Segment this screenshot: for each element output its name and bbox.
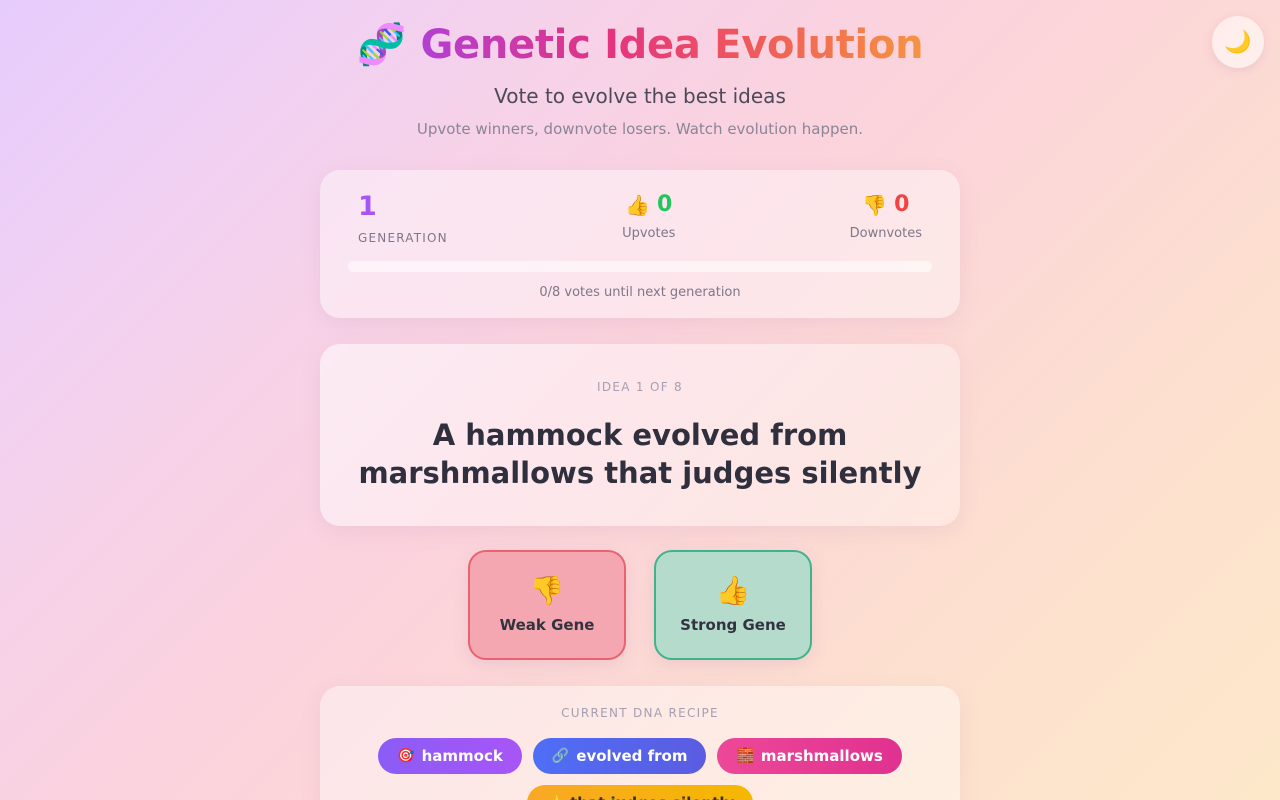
stats-card: 1 GENERATION 👍 0 Upvotes 👎 0 Downvotes: [320, 170, 960, 318]
dna-tag-label: that judges silently: [570, 794, 734, 800]
dna-tag[interactable]: 🔗 evolved from: [533, 738, 707, 774]
thumbs-down-icon: 👎: [862, 193, 887, 217]
dna-tag[interactable]: 🧱 marshmallows: [717, 738, 901, 774]
thumbs-up-icon: 👍: [625, 193, 650, 217]
strong-gene-label: Strong Gene: [680, 616, 786, 634]
dna-tag[interactable]: 🎯 hammock: [378, 738, 522, 774]
thumbs-up-icon: 👍: [716, 577, 751, 605]
brick-icon: 🧱: [736, 748, 753, 764]
dna-tag-label: hammock: [422, 747, 503, 765]
stat-generation: 1 GENERATION: [358, 192, 448, 245]
generation-label: GENERATION: [358, 231, 448, 245]
vote-buttons: 👎 Weak Gene 👍 Strong Gene: [468, 550, 812, 660]
dna-icon: 🧬: [357, 25, 407, 65]
sparkles-icon: ✨: [546, 795, 563, 800]
stat-upvotes: 👍 0 Upvotes: [622, 192, 675, 241]
dna-tag-list: 🎯 hammock 🔗 evolved from 🧱 marshmallows …: [340, 738, 940, 800]
link-icon: 🔗: [552, 748, 569, 764]
idea-card: IDEA 1 OF 8 A hammock evolved from marsh…: [320, 344, 960, 527]
stat-downvotes: 👎 0 Downvotes: [850, 192, 922, 241]
upvotes-value-row: 👍 0: [622, 192, 675, 217]
page-subtitle: Vote to evolve the best ideas: [357, 84, 924, 108]
downvotes-value-row: 👎 0: [850, 192, 922, 217]
generation-value: 1: [358, 192, 448, 222]
strong-gene-button[interactable]: 👍 Strong Gene: [654, 550, 812, 660]
downvotes-count: 0: [894, 192, 909, 217]
dna-recipe-title: CURRENT DNA RECIPE: [340, 706, 940, 720]
title-row: 🧬 Genetic Idea Evolution: [357, 22, 924, 68]
thumbs-down-icon: 👎: [530, 577, 565, 605]
dna-tag[interactable]: ✨ that judges silently: [527, 785, 754, 800]
idea-counter: IDEA 1 OF 8: [352, 380, 928, 394]
page-root: 🧬 Genetic Idea Evolution Vote to evolve …: [0, 0, 1280, 800]
dark-mode-toggle[interactable]: 🌙: [1212, 16, 1264, 68]
target-icon: 🎯: [397, 748, 414, 764]
downvotes-label: Downvotes: [850, 226, 922, 241]
generation-progress-bar: [348, 261, 932, 272]
page-title: Genetic Idea Evolution: [420, 22, 923, 68]
page-header: 🧬 Genetic Idea Evolution Vote to evolve …: [357, 22, 924, 138]
dna-tag-label: marshmallows: [761, 747, 883, 765]
dna-tag-label: evolved from: [576, 747, 687, 765]
weak-gene-button[interactable]: 👎 Weak Gene: [468, 550, 626, 660]
upvotes-label: Upvotes: [622, 226, 675, 241]
dna-recipe-card: CURRENT DNA RECIPE 🎯 hammock 🔗 evolved f…: [320, 686, 960, 800]
progress-caption: 0/8 votes until next generation: [340, 285, 940, 300]
page-tagline: Upvote winners, downvote losers. Watch e…: [357, 120, 924, 138]
stats-row: 1 GENERATION 👍 0 Upvotes 👎 0 Downvotes: [340, 192, 940, 245]
idea-text: A hammock evolved from marshmallows that…: [352, 416, 928, 493]
moon-icon: 🌙: [1224, 31, 1251, 53]
upvotes-count: 0: [657, 192, 672, 217]
weak-gene-label: Weak Gene: [500, 616, 595, 634]
